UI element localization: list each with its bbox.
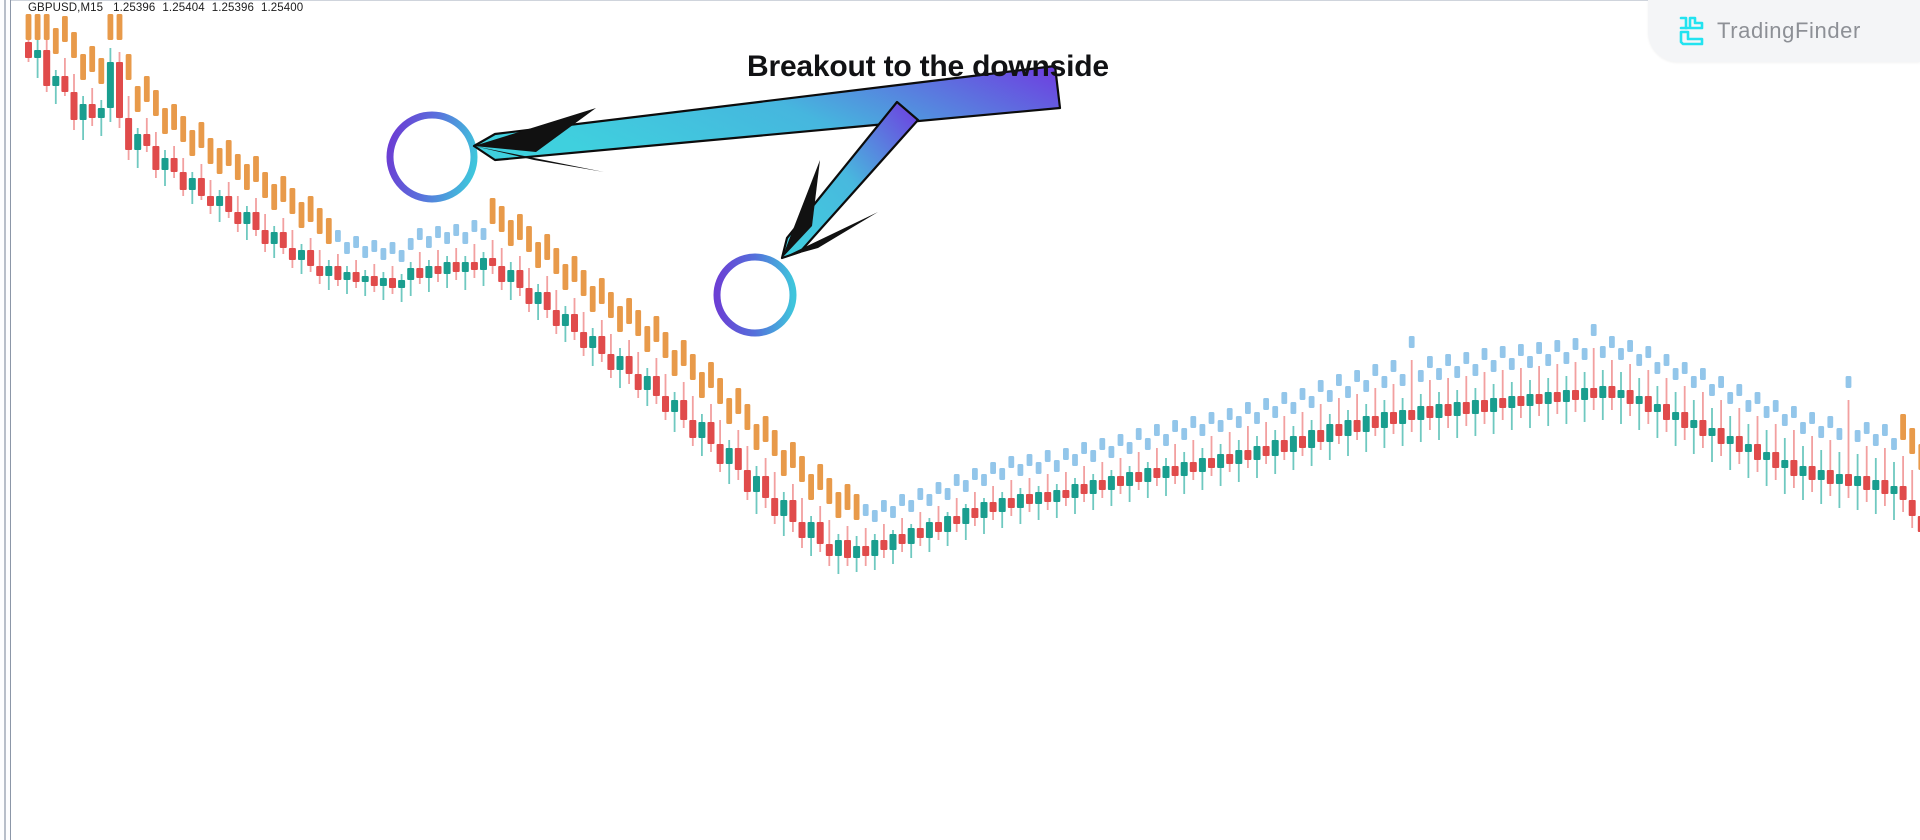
chart-window: GBPUSD,M151.253961.254041.253961.25400 [0,0,1920,840]
chart-left-gutter[interactable] [0,0,11,840]
brand-panel: TradingFinder [1648,0,1920,62]
scrollbar-track[interactable] [4,0,6,840]
tradingfinder-logo-icon [1676,15,1706,47]
price-chart-plot[interactable] [11,0,1920,840]
brand-name-label: TradingFinder [1717,18,1861,44]
annotation-label: Breakout to the downside [747,50,1109,84]
candlestick-series [11,0,1920,840]
